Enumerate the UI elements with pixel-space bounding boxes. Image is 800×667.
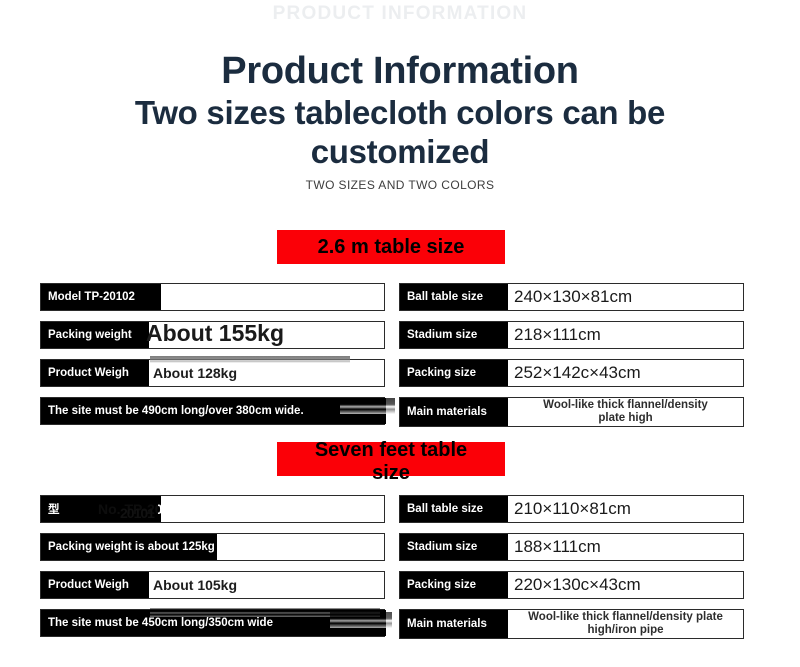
table-row: Packing size 220×130c×43cm <box>399 571 744 599</box>
page-title: Product Information <box>0 50 800 93</box>
section-banner-2: Seven feet table size <box>277 442 505 476</box>
table-row: Product Weigh About 105kg <box>40 571 385 599</box>
spec-value: About 105kg <box>149 572 384 598</box>
spec-label: Packing weight is about 125kg <box>41 534 217 560</box>
spec-value: About 128kg <box>149 360 384 386</box>
spec-label: Ball table size <box>400 496 508 522</box>
table-row: Main materials Wool-like thick flannel/d… <box>399 397 744 427</box>
spec-value: Wool-like thick flannel/density plate hi… <box>508 398 743 426</box>
page-subtitle-headline: Two sizes tablecloth colors can be custo… <box>0 93 800 172</box>
spec-value <box>149 322 384 348</box>
table-row: Model TP-20102 <box>40 283 385 311</box>
spec-label: The site must be 450cm long/350cm wide <box>41 610 386 636</box>
table-row: The site must be 450cm long/350cm wide <box>40 609 385 637</box>
spec-value: 218×111cm <box>508 322 743 348</box>
table-row: Product Weigh About 128kg <box>40 359 385 387</box>
spec-label: Main materials <box>400 398 508 426</box>
table-row: Ball table size 240×130×81cm <box>399 283 744 311</box>
spec-table-1-left: Model TP-20102 Packing weight Product We… <box>40 283 385 435</box>
table-row: Main materials Wool-like thick flannel/d… <box>399 609 744 639</box>
spec-value: 252×142c×43cm <box>508 360 743 386</box>
table-row: Packing size 252×142c×43cm <box>399 359 744 387</box>
spec-label: Packing weight <box>41 322 149 348</box>
spec-label: 型 <box>41 496 161 522</box>
page-header: Product Information Two sizes tablecloth… <box>0 50 800 192</box>
spec-table-2-left: 型 Packing weight is about 125kg Product … <box>40 495 385 647</box>
spec-table-1-right: Ball table size 240×130×81cm Stadium siz… <box>399 283 744 437</box>
spec-value: 210×110×81cm <box>508 496 743 522</box>
spec-label: Model TP-20102 <box>41 284 161 310</box>
spec-label: Packing size <box>400 572 508 598</box>
page-tagline: TWO SIZES AND TWO COLORS <box>0 178 800 192</box>
spec-value: Wool-like thick flannel/density plate hi… <box>508 610 743 638</box>
spec-label: Product Weigh <box>41 572 149 598</box>
page-watermark: PRODUCT INFORMATION <box>0 3 800 25</box>
spec-value <box>161 284 384 310</box>
table-row: Ball table size 210×110×81cm <box>399 495 744 523</box>
spec-label: Packing size <box>400 360 508 386</box>
spec-label: The site must be 490cm long/over 380cm w… <box>41 398 386 424</box>
section-banner-1-label: 2.6 m table size <box>318 236 465 259</box>
table-row: Stadium size 218×111cm <box>399 321 744 349</box>
table-row: Packing weight <box>40 321 385 349</box>
spec-label: Product Weigh <box>41 360 149 386</box>
spec-value: 188×111cm <box>508 534 743 560</box>
spec-table-2-right: Ball table size 210×110×81cm Stadium siz… <box>399 495 744 649</box>
spec-label: Main materials <box>400 610 508 638</box>
table-row: Stadium size 188×111cm <box>399 533 744 561</box>
spec-value <box>217 534 384 560</box>
spec-value: 240×130×81cm <box>508 284 743 310</box>
spec-label: Ball table size <box>400 284 508 310</box>
table-row: The site must be 490cm long/over 380cm w… <box>40 397 385 425</box>
spec-label: Stadium size <box>400 534 508 560</box>
table-row: Packing weight is about 125kg <box>40 533 385 561</box>
spec-label: Stadium size <box>400 322 508 348</box>
spec-value <box>161 496 384 522</box>
spec-value: 220×130c×43cm <box>508 572 743 598</box>
table-row: 型 <box>40 495 385 523</box>
section-banner-1: 2.6 m table size <box>277 230 505 264</box>
section-banner-2-label: Seven feet table size <box>296 439 486 485</box>
